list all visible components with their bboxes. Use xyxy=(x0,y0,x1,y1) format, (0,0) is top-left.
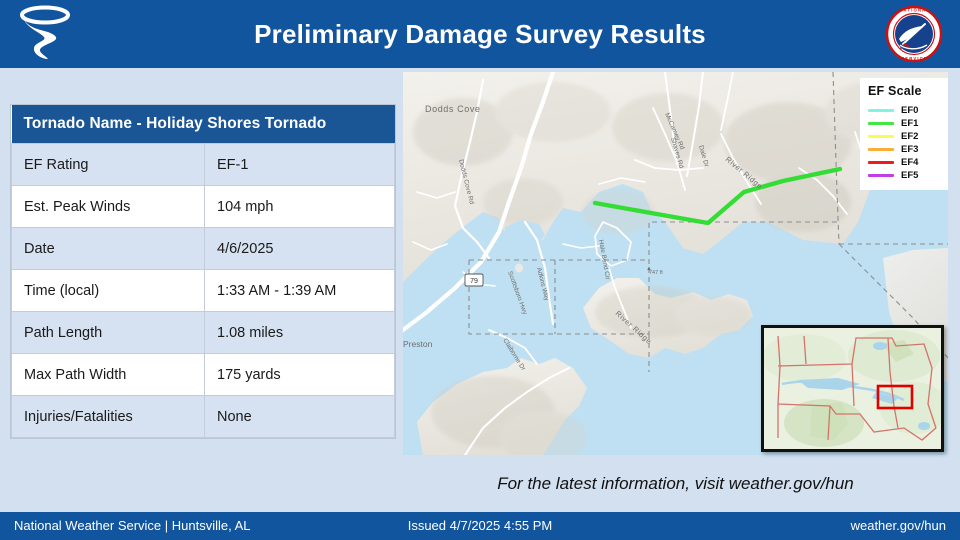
svg-text:.: . xyxy=(794,347,795,351)
row-label-time: Time (local) xyxy=(12,270,205,312)
ef4-color-swatch xyxy=(868,161,894,164)
table-header-label: Tornado Name - Holiday Shores Tornado xyxy=(12,105,395,144)
svg-text:79: 79 xyxy=(470,278,478,285)
map-elevation-marker: ▲ xyxy=(646,266,652,272)
row-value-time: 1:33 AM - 1:39 AM xyxy=(205,270,395,312)
row-label-max-width: Max Path Width xyxy=(12,354,205,396)
ef-scale-legend: EF Scale EF0 EF1 EF2 EF3 EF4 EF5 xyxy=(860,78,948,190)
row-label-date: Date xyxy=(12,228,205,270)
caption-text: For the latest information, visit weathe… xyxy=(403,474,948,494)
ef5-color-swatch xyxy=(868,174,894,177)
row-value-peak-winds: 104 mph xyxy=(205,186,395,228)
row-value-ef-rating: EF-1 xyxy=(205,144,395,186)
map-label-preston: Preston xyxy=(403,339,433,349)
ef-legend-item-ef3: EF3 xyxy=(868,143,942,156)
ef5-label: EF5 xyxy=(901,170,918,181)
ef1-color-swatch xyxy=(868,122,894,125)
ef0-color-swatch xyxy=(868,109,894,112)
nws-seal-icon: N A T I O N A L S E R V I C E xyxy=(885,5,943,63)
row-label-path-length: Path Length xyxy=(12,312,205,354)
row-label-injuries: Injuries/Fatalities xyxy=(12,396,205,438)
row-value-date: 4/6/2025 xyxy=(205,228,395,270)
table-row: Max Path Width 175 yards xyxy=(12,354,395,396)
svg-text:N A T I O N A L: N A T I O N A L xyxy=(899,7,929,12)
page-title: Preliminary Damage Survey Results xyxy=(0,0,960,68)
table-row: Est. Peak Winds 104 mph xyxy=(12,186,395,228)
ef2-label: EF2 xyxy=(901,131,918,142)
svg-text:S E R V I C E: S E R V I C E xyxy=(901,56,927,61)
ef0-label: EF0 xyxy=(901,105,918,116)
ef3-label: EF3 xyxy=(901,144,918,155)
page-footer: National Weather Service | Huntsville, A… xyxy=(0,512,960,540)
ef-legend-item-ef0: EF0 xyxy=(868,104,942,117)
table-header-row: Tornado Name - Holiday Shores Tornado xyxy=(12,105,395,144)
table-row: Time (local) 1:33 AM - 1:39 AM xyxy=(12,270,395,312)
ef2-color-swatch xyxy=(868,135,894,138)
ef-legend-item-ef4: EF4 xyxy=(868,156,942,169)
table-row: Path Length 1.08 miles xyxy=(12,312,395,354)
ef-legend-item-ef1: EF1 xyxy=(868,117,942,130)
row-label-ef-rating: EF Rating xyxy=(12,144,205,186)
table-row: Injuries/Fatalities None xyxy=(12,396,395,438)
map-label-dodds-cove: Dodds Cove xyxy=(425,104,481,114)
row-value-max-width: 175 yards xyxy=(205,354,395,396)
footer-website-link[interactable]: weather.gov/hun xyxy=(851,512,946,540)
ef-scale-legend-title: EF Scale xyxy=(868,84,942,98)
route-shield-79: 79 xyxy=(465,274,483,286)
inset-map-canvas: . xyxy=(764,328,941,449)
row-label-peak-winds: Est. Peak Winds xyxy=(12,186,205,228)
table-row: Date 4/6/2025 xyxy=(12,228,395,270)
page-header: Preliminary Damage Survey Results N A T … xyxy=(0,0,960,68)
ef-legend-item-ef2: EF2 xyxy=(868,130,942,143)
locator-inset-map[interactable]: . xyxy=(761,325,944,452)
row-value-path-length: 1.08 miles xyxy=(205,312,395,354)
footer-issued-time: Issued 4/7/2025 4:55 PM xyxy=(0,512,960,540)
ef-legend-item-ef5: EF5 xyxy=(868,169,942,182)
table-row: EF Rating EF-1 xyxy=(12,144,395,186)
ef4-label: EF4 xyxy=(901,157,918,168)
ef1-label: EF1 xyxy=(901,118,918,129)
row-value-injuries: None xyxy=(205,396,395,438)
tornado-summary-table: Tornado Name - Holiday Shores Tornado EF… xyxy=(11,105,395,438)
ef3-color-swatch xyxy=(868,148,894,151)
